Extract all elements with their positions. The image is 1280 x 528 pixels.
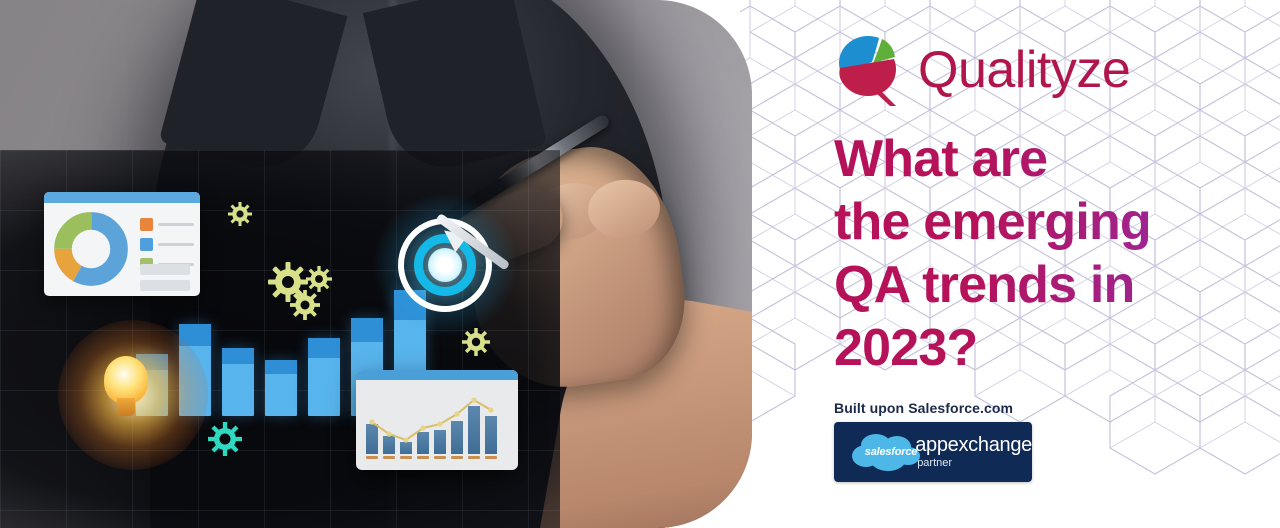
appexchange-title: appexchange xyxy=(915,435,1032,455)
combo-trend-line xyxy=(366,396,508,454)
appexchange-partner-badge[interactable]: salesforce appexchange partner xyxy=(834,422,1032,482)
combo-chart-card xyxy=(356,370,518,470)
lightbulb-base xyxy=(117,398,135,416)
hero-photo xyxy=(0,0,752,528)
banner: Qualityze What are the emerging QA trend… xyxy=(0,0,1280,528)
brand-wordmark: Qualityze xyxy=(918,44,1130,96)
card-title-bar xyxy=(44,192,200,203)
headline-line-1: What are xyxy=(834,128,1254,191)
headline-line-2: the emerging xyxy=(834,191,1254,254)
placeholder-line xyxy=(140,264,190,275)
combo-x-axis xyxy=(366,456,508,459)
built-upon-text: Built upon Salesforce.com xyxy=(834,400,1013,416)
legend-item xyxy=(140,218,194,231)
gear-icon xyxy=(290,290,320,320)
placeholder-line xyxy=(140,280,190,291)
card-title-bar xyxy=(356,370,518,380)
lightbulb-icon xyxy=(104,356,148,404)
target-bullseye-icon xyxy=(398,218,492,312)
appexchange-subtitle: partner xyxy=(917,458,1032,469)
headline-line-4: 2023? xyxy=(834,317,1254,380)
donut-chart xyxy=(54,212,128,286)
salesforce-cloud-icon: salesforce xyxy=(850,431,903,473)
legend-item xyxy=(140,238,194,251)
target-center xyxy=(428,248,462,282)
bar xyxy=(222,348,254,416)
bar xyxy=(265,360,297,416)
brand-logo[interactable]: Qualityze xyxy=(832,32,1130,108)
gear-icon xyxy=(228,202,252,226)
qualityze-magnifier-logo-icon xyxy=(832,32,904,108)
appexchange-text: appexchange partner xyxy=(915,435,1032,469)
page-title: What are the emerging QA trends in 2023? xyxy=(834,128,1254,380)
bar xyxy=(308,338,340,416)
gear-icon xyxy=(208,422,242,456)
salesforce-label: salesforce xyxy=(850,431,932,473)
gear-icon xyxy=(306,266,332,292)
headline-line-3: QA trends in xyxy=(834,254,1254,317)
donut-chart-card xyxy=(44,192,200,296)
content-panel: Qualityze What are the emerging QA trend… xyxy=(832,0,1262,528)
